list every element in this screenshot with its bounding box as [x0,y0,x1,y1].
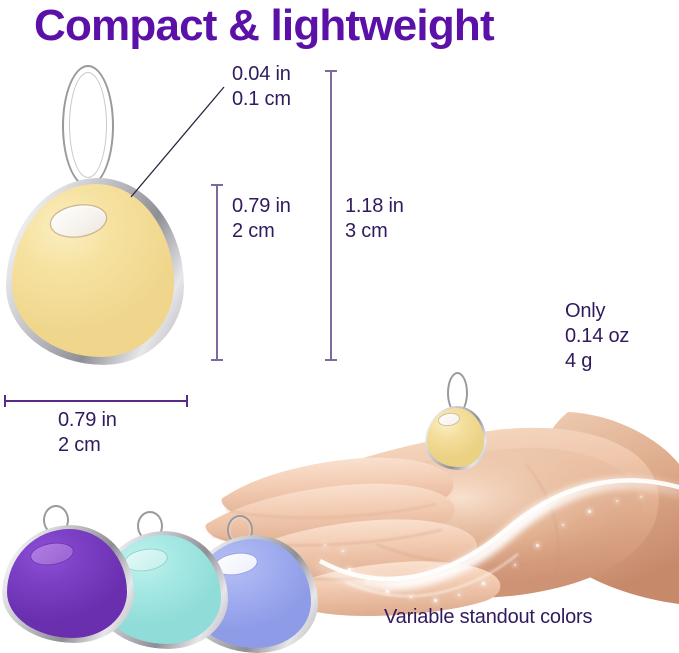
tracker-body [425,406,487,470]
thickness-leader-line [128,84,228,200]
measure-cap-bottom [325,359,337,361]
sparkle [386,590,389,593]
color-variant-group [0,505,300,633]
measure-cap-top [211,184,223,186]
color-variants-caption: Variable standout colors [384,605,592,629]
tracker-body [2,525,134,643]
measure-cap-top [325,70,337,72]
sparkle [400,438,402,440]
tracker-body [6,178,184,365]
color-variant-purple[interactable] [2,525,134,643]
sparkle [482,582,485,585]
dimension-total-height-label: 1.18 in 3 cm [345,194,404,244]
measure-line-total-height [330,70,332,361]
sparkle [410,596,412,598]
sparkle [458,594,460,596]
page-title: Compact & lightweight [34,2,494,50]
product-tracker-yellow [6,178,184,365]
sparkle [514,564,516,566]
product-tracker-in-palm [425,406,487,470]
sparkle [367,580,369,582]
measure-cap-bottom [211,359,223,361]
measure-line-body-height [216,184,218,361]
sparkle [536,544,539,547]
sparkle [342,550,344,552]
infographic-canvas: Compact & lightweight 0.04 in 0.1 cm 0.7… [0,0,679,633]
sparkle [640,496,642,498]
sparkle [588,510,591,513]
dimension-body-height-label: 0.79 in 2 cm [232,194,291,244]
sparkle [348,568,351,571]
dimension-width-label: 0.79 in 2 cm [58,408,117,458]
sparkle [562,524,564,526]
sparkle [324,544,326,546]
dimension-thickness-label: 0.04 in 0.1 cm [232,62,291,112]
measure-line-width [4,400,188,402]
sparkle [616,500,618,502]
measure-cap-right [186,395,188,407]
keyring-inner-icon [69,72,107,178]
weight-callout-label: Only 0.14 oz 4 g [565,299,629,374]
measure-cap-left [4,395,6,407]
sparkle [434,599,437,602]
